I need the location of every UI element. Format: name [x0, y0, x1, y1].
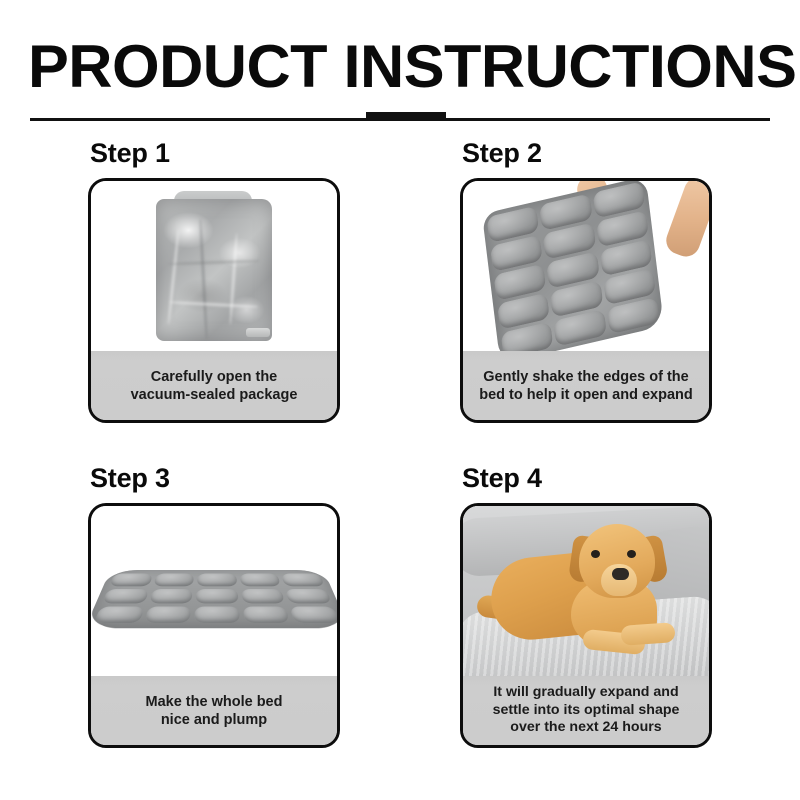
- bed-puff: [243, 606, 290, 622]
- bed-puff: [153, 574, 194, 587]
- step-3-caption-text: Make the whole bed nice and plump: [146, 693, 283, 729]
- page-title: PRODUCT INSTRUCTIONS: [28, 36, 796, 98]
- bed-puff: [240, 574, 281, 587]
- bed-puff: [144, 606, 191, 622]
- step-4-card-body: It will gradually expand and settle into…: [460, 503, 712, 748]
- dog-eye: [627, 550, 636, 558]
- step-card-4: Step 4: [460, 463, 712, 748]
- package-crease: [170, 301, 258, 308]
- held-bed-illustration: [463, 181, 709, 357]
- title-divider: [30, 112, 770, 124]
- bed-puff: [282, 574, 325, 587]
- step-1-caption-band: Carefully open the vacuum-sealed package: [91, 351, 337, 420]
- package-crease: [229, 233, 238, 325]
- dog-nose: [612, 568, 629, 580]
- package-crease: [199, 219, 208, 339]
- vacuum-sealed-package-image: [91, 181, 337, 357]
- step-label-2: Step 2: [462, 138, 712, 168]
- step-3-card-body: Make the whole bed nice and plump: [88, 503, 340, 748]
- bed-puff: [241, 589, 285, 603]
- step-card-2: Step 2: [460, 138, 712, 423]
- divider-accent-block: [366, 112, 446, 121]
- step-card-1: Step 1 Carefully open the vacuum-seal: [88, 138, 340, 423]
- step-label-1: Step 1: [90, 138, 340, 168]
- package-seal-tab: [246, 328, 270, 337]
- bed-puff: [196, 589, 239, 603]
- step-card-3: Step 3: [88, 463, 340, 748]
- bed-puff: [286, 589, 332, 603]
- step-1-caption-text: Carefully open the vacuum-sealed package: [131, 368, 298, 404]
- dog-paw: [620, 622, 675, 646]
- package-crease: [168, 259, 260, 265]
- step-2-caption-text: Gently shake the edges of the bed to hel…: [479, 368, 692, 404]
- bed-puff: [197, 574, 237, 587]
- dog-eye: [591, 550, 600, 558]
- steps-grid: Step 1 Carefully open the vacuum-seal: [0, 138, 800, 778]
- step-2-card-body: Gently shake the edges of the bed to hel…: [460, 178, 712, 423]
- bed-puff: [194, 606, 240, 622]
- package-body: [156, 199, 272, 341]
- flat-bed-illustration: [91, 506, 337, 682]
- quilted-bed: [482, 181, 664, 357]
- step-3-caption-band: Make the whole bed nice and plump: [91, 676, 337, 745]
- bed-puff: [290, 606, 337, 622]
- plump-bed-image: [91, 506, 337, 682]
- bed-puff: [94, 606, 144, 622]
- bed-puff: [109, 574, 152, 587]
- page-header: PRODUCT INSTRUCTIONS: [0, 0, 800, 130]
- package-crease: [167, 229, 180, 325]
- step-label-3: Step 3: [90, 463, 340, 493]
- bed-puff: [102, 589, 149, 603]
- dog-on-bed-image: [463, 506, 709, 682]
- step-4-caption-text: It will gradually expand and settle into…: [493, 684, 680, 737]
- step-2-caption-band: Gently shake the edges of the bed to hel…: [463, 351, 709, 420]
- step-4-caption-band: It will gradually expand and settle into…: [463, 676, 709, 745]
- dog-photo-scene: [463, 506, 709, 682]
- bed-puff: [149, 589, 193, 603]
- step-label-4: Step 4: [462, 463, 712, 493]
- hands-holding-bed-image: [463, 181, 709, 357]
- plump-bed: [91, 570, 337, 628]
- tuft-grid: [482, 181, 664, 357]
- bed-puff-grid: [91, 570, 337, 628]
- hand-right: [662, 181, 709, 260]
- package-illustration: [152, 189, 276, 349]
- step-1-card-body: Carefully open the vacuum-sealed package: [88, 178, 340, 423]
